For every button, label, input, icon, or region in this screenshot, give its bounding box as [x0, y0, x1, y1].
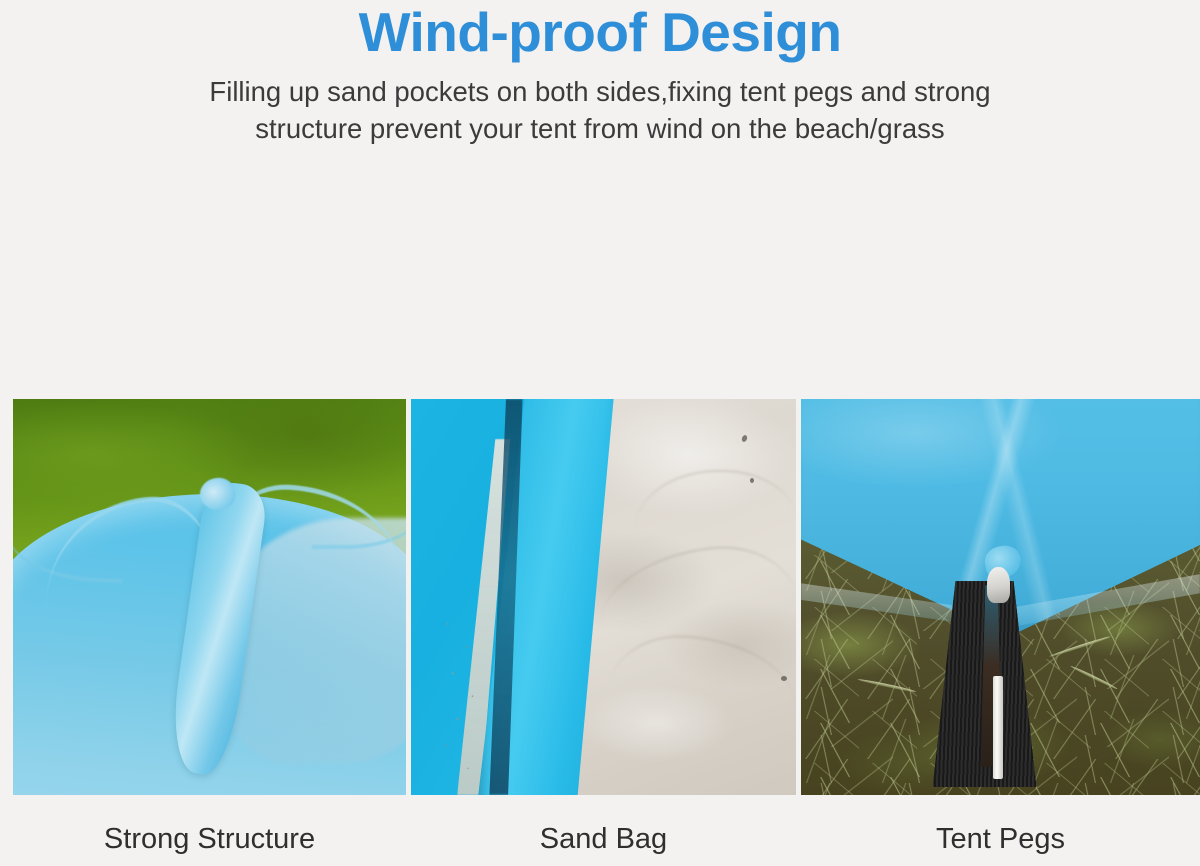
feature-caption-row: Strong Structure Sand Bag Tent Pegs: [0, 818, 1200, 866]
tent-peg-head: [987, 567, 1011, 603]
caption-tent-pegs: Tent Pegs: [801, 818, 1200, 860]
feature-panel-strong-structure: [13, 399, 406, 795]
page-title: Wind-proof Design: [0, 1, 1200, 63]
page-subtitle: Filling up sand pockets on both sides,fi…: [0, 73, 1200, 147]
product-feature-page: Wind-proof Design Filling up sand pocket…: [0, 0, 1200, 866]
feature-panel-tent-pegs: [801, 399, 1200, 795]
caption-sand-bag: Sand Bag: [411, 818, 796, 860]
photo-strong-structure: [13, 399, 406, 795]
caption-strong-structure: Strong Structure: [13, 818, 406, 860]
tent-peg-shaft: [993, 676, 1003, 779]
sand-speck-b: [750, 478, 754, 483]
photo-tent-pegs: [801, 399, 1200, 795]
header: Wind-proof Design Filling up sand pocket…: [0, 0, 1200, 147]
feature-image-row: [0, 399, 1200, 795]
sand-speck-c: [781, 676, 787, 681]
subtitle-line-2: structure prevent your tent from wind on…: [0, 110, 1200, 147]
photo-sand-bag: [411, 399, 796, 795]
sand-grains: [434, 605, 496, 795]
feature-panel-sand-bag: [411, 399, 796, 795]
subtitle-line-1: Filling up sand pockets on both sides,fi…: [0, 73, 1200, 110]
